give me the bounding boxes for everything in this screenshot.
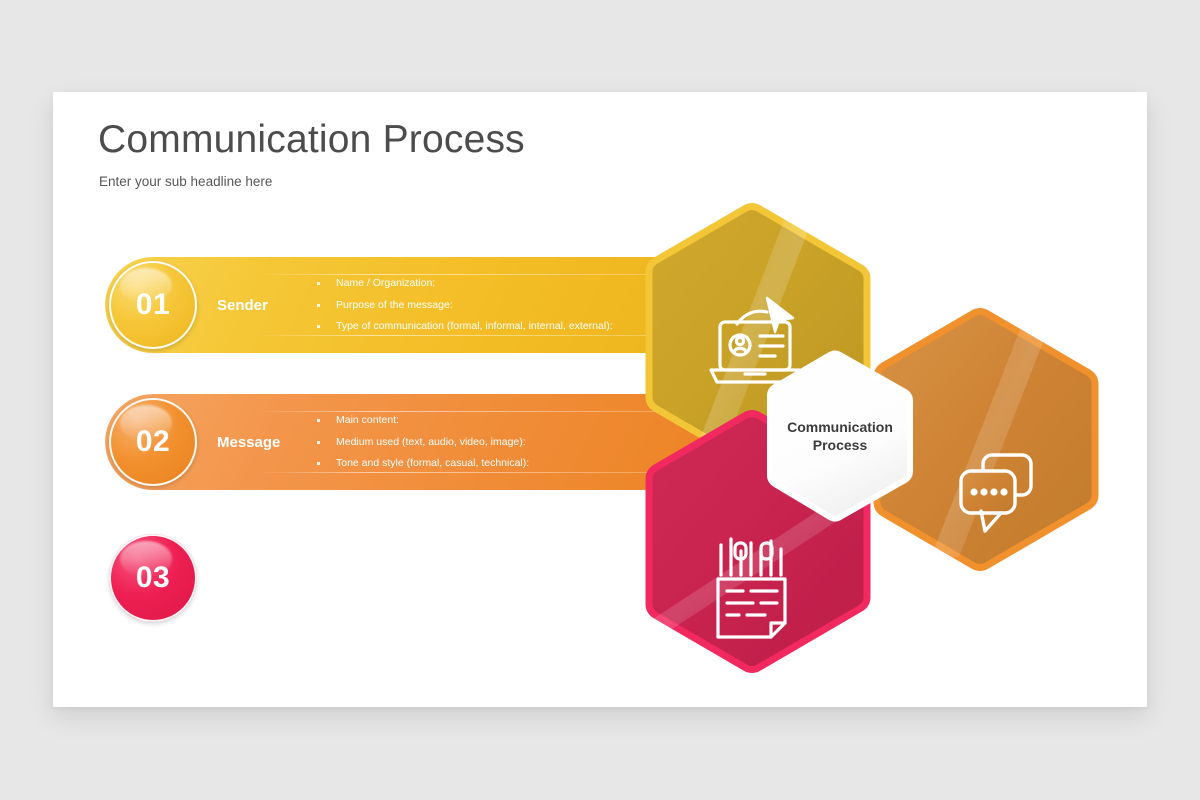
center-label-line2: Process	[813, 436, 867, 454]
hexagon-center[interactable]: Communication Process	[765, 350, 915, 522]
hexagon-cluster: Communication Process	[53, 92, 1147, 707]
slide-canvas: Communication Process Enter your sub hea…	[53, 92, 1147, 707]
slide-stage: Communication Process Enter your sub hea…	[0, 0, 1200, 800]
center-label-line1: Communication	[787, 418, 893, 436]
hexagon-center-label: Communication Process	[765, 350, 915, 522]
